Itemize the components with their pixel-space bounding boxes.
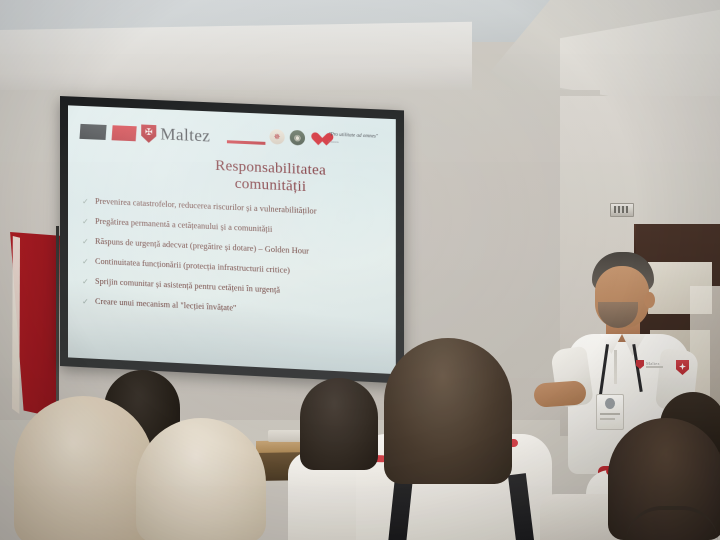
audience-head	[384, 338, 512, 484]
slide: ✠ Maltez ✵ ◉ "Pro utilitate ad omnes" Cr…	[68, 105, 396, 374]
check-icon: ✓	[82, 296, 90, 307]
wall-sign	[610, 203, 634, 217]
bullet-text: Pregătirea permanentă a cetățeanului și …	[95, 217, 272, 235]
slide-bullet-list: ✓ Prevenirea catastrofelor, reducerea ri…	[78, 196, 386, 322]
bullet-text: Răspuns de urgență adecvat (pregătire și…	[95, 237, 309, 257]
polo-chest-logo: Maltez	[636, 360, 664, 370]
check-icon: ✓	[82, 196, 90, 207]
banner-stripe	[12, 236, 20, 414]
list-item: ✓ Creare unui mecanism al "lecției învăț…	[82, 296, 386, 322]
presenter-arm-left	[533, 380, 587, 408]
projection-screen: ✠ Maltez ✵ ◉ "Pro utilitate ad omnes" Cr…	[60, 96, 404, 384]
lanyard-id-badge	[596, 394, 624, 430]
badge-photo	[605, 398, 615, 409]
badge-line-2	[600, 418, 615, 420]
circular-emblem-icon-1: ✵	[269, 129, 284, 145]
check-icon: ✓	[82, 216, 90, 227]
audience-head	[136, 418, 266, 540]
photo-scene: ✠ Maltez ✵ ◉ "Pro utilitate ad omnes" Cr…	[0, 0, 720, 540]
bullet-text: Prevenirea catastrofelor, reducerea risc…	[95, 197, 317, 217]
gray-block-icon	[79, 124, 106, 140]
check-icon: ✓	[82, 276, 90, 287]
polo-logo-rule	[646, 366, 663, 368]
brand-wordmark: Maltez	[160, 124, 210, 146]
cross-glyph-icon: ✠	[144, 128, 153, 137]
check-icon: ✓	[82, 236, 90, 247]
heart-icon	[310, 131, 326, 147]
check-icon: ✓	[82, 256, 90, 267]
circular-emblem-icon-2: ◉	[290, 130, 305, 146]
audience-head	[300, 378, 378, 470]
maltese-cross-shield-icon	[636, 360, 644, 369]
bullet-text: Continuitatea funcționării (protecția in…	[95, 257, 290, 276]
motto-block: "Pro utilitate ad omnes" Crucea	[328, 132, 383, 145]
partner-logos: ✵ ◉	[269, 129, 326, 147]
audience-head	[14, 396, 154, 540]
motto-line-2: Crucea	[328, 140, 383, 146]
red-block-icon	[112, 125, 137, 141]
presenter-placket	[614, 350, 617, 384]
bullet-text: Creare unui mecanism al "lecției învățat…	[95, 297, 236, 314]
banner-pole	[56, 226, 59, 424]
red-rule-divider	[227, 140, 265, 145]
presenter-ear	[644, 292, 655, 308]
motto-line-1: "Pro utilitate ad omnes"	[328, 132, 383, 139]
bullet-text: Sprijin comunitar și asistență pentru ce…	[95, 277, 280, 296]
screen-surface: ✠ Maltez ✵ ◉ "Pro utilitate ad omnes" Cr…	[68, 105, 396, 374]
badge-line-1	[600, 413, 620, 415]
